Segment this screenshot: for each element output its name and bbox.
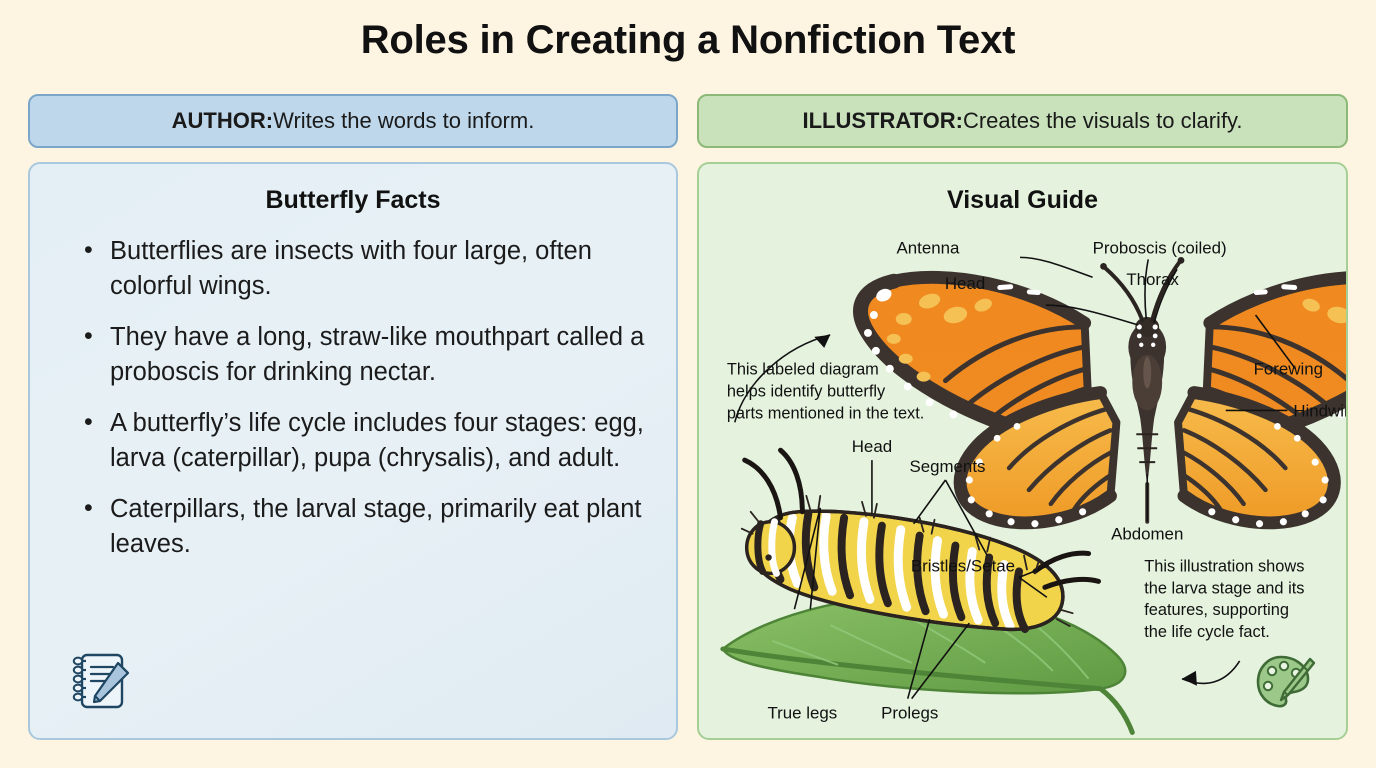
illustrator-role-header: ILLUSTRATOR: Creates the visuals to clar… [697,94,1348,148]
label-abdomen: Abdomen [1111,525,1183,544]
butterfly-annotation-line-2: helps identify butterfly [727,383,886,401]
list-item: A butterfly’s life cycle includes four s… [80,406,646,476]
label-head: Head [945,274,985,293]
caterpillar-annotation-line-4: the life cycle fact. [1144,623,1270,641]
paint-palette-icon [1254,653,1316,716]
label-bristles-setae: Bristles/Setae [911,556,1015,575]
visual-guide-diagram: Antenna Head Proboscis (coiled) Thorax F… [699,222,1346,740]
author-role-name: AUTHOR: [172,108,273,134]
illustrator-role-name: ILLUSTRATOR: [802,108,963,134]
label-prolegs: Prolegs [881,704,938,723]
label-hindwing: Hindwing [1293,401,1346,420]
caterpillar-annotation-line-3: features, supporting [1144,601,1289,619]
butterfly-facts-title: Butterfly Facts [30,186,676,215]
illustrator-role-description: Creates the visuals to clarify. [963,108,1243,134]
list-item: Butterflies are insects with four large,… [80,234,646,304]
label-segments: Segments [909,457,985,476]
label-forewing: Forewing [1254,360,1323,379]
label-antenna: Antenna [897,238,960,257]
butterfly-annotation-line-1: This labeled diagram [727,361,879,379]
caterpillar-annotation-line-1: This illustration shows [1144,557,1304,575]
author-role-header: AUTHOR: Writes the words to inform. [28,94,678,148]
author-role-description: Writes the words to inform. [273,108,534,134]
infographic-page: Roles in Creating a Nonfiction Text AUTH… [0,0,1376,768]
list-item: They have a long, straw-like mouthpart c… [80,320,646,390]
author-panel: Butterfly Facts Butterflies are insects … [28,162,678,740]
list-item: Caterpillars, the larval stage, primaril… [80,492,646,562]
label-true-legs: True legs [768,704,838,723]
label-thorax: Thorax [1126,270,1179,289]
label-caterpillar-head: Head [852,437,892,456]
butterfly-facts-list: Butterflies are insects with four large,… [80,234,646,578]
butterfly-annotation-line-3: parts mentioned in the text. [727,404,925,422]
visual-guide-title: Visual Guide [699,186,1346,215]
butterfly-illustration [861,257,1346,527]
illustrator-panel: Visual Guide [697,162,1348,740]
label-proboscis: Proboscis (coiled) [1093,238,1227,257]
caterpillar-annotation-line-2: the larva stage and its [1144,579,1304,597]
page-title: Roles in Creating a Nonfiction Text [0,18,1376,63]
notepad-pencil-icon [68,649,134,718]
